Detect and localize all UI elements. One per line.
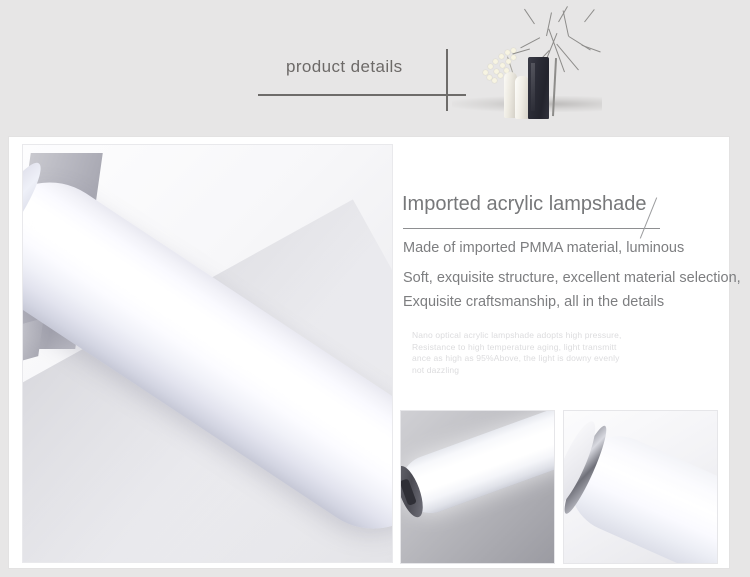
banner-title: product details	[286, 57, 403, 77]
product-feature-list: Made of imported PMMA material, luminous…	[403, 236, 733, 314]
fineprint-line: not dazzling	[412, 365, 662, 377]
feature-line: Soft, exquisite structure, excellent mat…	[403, 266, 733, 290]
twig-branches-icon	[506, 2, 614, 66]
feature-line: Exquisite craftsmanship, all in the deta…	[403, 290, 733, 314]
fineprint-line: Nano optical acrylic lampshade adopts hi…	[412, 330, 662, 342]
dark-vase-icon	[528, 57, 549, 119]
banner-decoration	[470, 0, 615, 125]
product-title: Imported acrylic lampshade	[402, 190, 722, 218]
thumbnail-lit-lamp[interactable]	[400, 410, 555, 564]
product-info: Imported acrylic lampshade	[402, 190, 722, 218]
fineprint-line: Resistance to high temperature aging, li…	[412, 342, 662, 354]
product-fineprint: Nano optical acrylic lampshade adopts hi…	[412, 330, 662, 376]
title-underline	[403, 228, 660, 229]
banner-vertical-tick	[446, 49, 448, 111]
hero-product-image[interactable]	[22, 144, 393, 563]
fineprint-line: ance as high as 95%Above, the light is d…	[412, 353, 662, 365]
feature-line: Made of imported PMMA material, luminous	[403, 236, 733, 260]
page-banner: product details	[0, 0, 750, 132]
thumbnail-end-cap[interactable]	[563, 410, 718, 564]
white-vase-icon	[515, 76, 529, 119]
banner-horizontal-rule	[258, 94, 466, 96]
